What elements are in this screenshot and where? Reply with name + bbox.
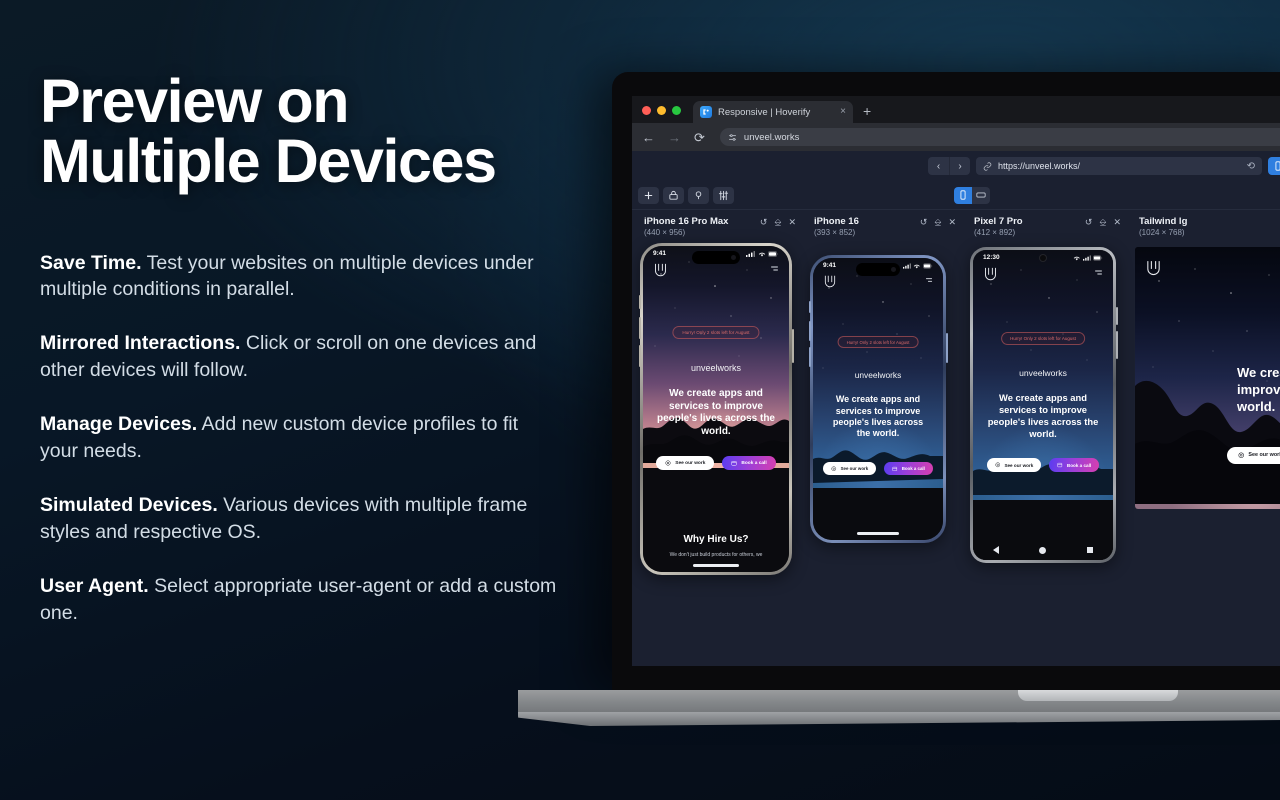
status-bar-time: 12:30 <box>983 254 1000 261</box>
see-our-work-button[interactable]: See our work <box>823 462 876 475</box>
dynamic-island <box>856 263 900 276</box>
calendar-icon <box>731 460 737 466</box>
device-header: iPhone 16 (393 × 852) ↺ ⎒ ✕ <box>810 216 970 243</box>
device-name: Tailwind lg <box>1139 216 1187 228</box>
feature-title: Save Time. <box>40 252 142 274</box>
android-home-icon[interactable] <box>1039 547 1046 554</box>
page-title-line-1: Preview on <box>40 67 348 135</box>
device-frame: 9:41 <box>810 255 946 543</box>
maximize-window-button[interactable] <box>672 106 681 115</box>
orientation-toggle[interactable] <box>954 187 990 204</box>
unveel-logo-icon[interactable] <box>823 274 837 288</box>
back-icon[interactable]: ← <box>642 131 655 144</box>
site-nav <box>1135 259 1280 276</box>
forward-icon: → <box>668 131 681 144</box>
feature-title: Simulated Devices. <box>40 494 218 516</box>
landscape-orientation-icon[interactable] <box>972 187 990 204</box>
eye-icon <box>665 460 671 466</box>
menu-icon[interactable] <box>1094 268 1103 279</box>
device-actions[interactable]: ↺ ⎒ ✕ <box>760 216 796 227</box>
book-a-call-button[interactable]: Book a call <box>884 462 933 475</box>
device-frame: We create apps and services to improve p… <box>1135 247 1280 509</box>
punch-hole-camera <box>1039 254 1047 262</box>
new-tab-button[interactable]: + <box>863 103 871 123</box>
brand-name: unveelworks <box>813 370 943 380</box>
book-a-call-label: Book a call <box>1067 463 1091 468</box>
book-a-call-label: Book a call <box>902 466 925 471</box>
feature-title: User Agent. <box>40 575 149 597</box>
promo-badge: Hurry! Only 2 slots left for August <box>672 326 759 339</box>
device-actions[interactable]: ↺ ⎒ ✕ <box>920 216 956 227</box>
see-our-work-label: See our work <box>675 461 705 466</box>
feature-title: Manage Devices. <box>40 413 197 435</box>
feature-item: User Agent. Select appropriate user-agen… <box>40 573 560 627</box>
rotate-icon[interactable]: ↺ <box>760 218 768 227</box>
close-tab-icon[interactable]: × <box>840 107 846 117</box>
see-our-work-button[interactable]: See our work <box>656 456 714 470</box>
device-viewport[interactable]: We create apps and services to improve p… <box>1135 247 1280 509</box>
hero-headline: We create apps and services to improve p… <box>1223 365 1280 416</box>
minimize-window-button[interactable] <box>657 106 666 115</box>
device-header: Tailwind lg (1024 × 768) <box>1135 216 1280 243</box>
device-name: iPhone 16 Pro Max <box>644 216 728 228</box>
laptop-mockup: Responsive | Hoverify × + ← → ⟳ <box>612 72 1280 712</box>
hero-headline: We create apps and services to improve p… <box>813 394 943 439</box>
rendered-page: 9:41 <box>643 246 789 572</box>
status-bar-icons <box>1073 255 1104 261</box>
theme-button[interactable] <box>688 187 709 204</box>
page-title-line-2: Multiple Devices <box>40 132 600 192</box>
device-name: iPhone 16 <box>814 216 859 228</box>
page-title: Preview on Multiple Devices <box>40 72 600 192</box>
close-icon[interactable]: ✕ <box>948 218 956 227</box>
status-bar-time: 9:41 <box>823 262 836 269</box>
close-window-button[interactable] <box>642 106 651 115</box>
add-device-button[interactable] <box>638 187 659 204</box>
sliders-button[interactable] <box>713 187 734 204</box>
browser-window: Responsive | Hoverify × + ← → ⟳ <box>632 96 1280 666</box>
screenshot-icon[interactable]: ⎒ <box>1099 218 1106 227</box>
promo-badge: Hurry! Only 2 slots left for August <box>838 336 919 348</box>
device-header: iPhone 16 Pro Max (440 × 956) ↺ ⎒ ✕ <box>640 216 810 243</box>
calendar-icon <box>892 466 898 472</box>
front-camera <box>891 267 896 272</box>
cellular-icon <box>1083 255 1091 261</box>
hoverify-back-button[interactable]: ‹ <box>928 157 949 175</box>
close-icon[interactable]: ✕ <box>1113 218 1121 227</box>
feature-item: Mirrored Interactions. Click or scroll o… <box>40 330 560 384</box>
eye-icon <box>1238 452 1244 458</box>
laptop-base-notch <box>1018 690 1178 701</box>
marketing-column: Preview on Multiple Devices Save Time. T… <box>40 72 600 627</box>
hoverify-panel: ‹ › https://unveel.works/ ⟲ <box>632 151 1280 666</box>
device-dimensions: (393 × 852) <box>814 228 859 238</box>
rotate-icon[interactable]: ↺ <box>1085 218 1093 227</box>
unveel-logo-icon[interactable] <box>653 262 668 277</box>
see-our-work-button[interactable]: See our work <box>987 458 1041 472</box>
book-a-call-button[interactable]: Book a call <box>1049 458 1099 472</box>
hoverify-url-row: ‹ › https://unveel.works/ ⟲ <box>632 151 1280 181</box>
close-icon[interactable]: ✕ <box>788 218 796 227</box>
browser-tab-title: Responsive | Hoverify <box>718 107 834 118</box>
hoverify-reload-icon[interactable]: ⟲ <box>1247 161 1255 172</box>
laptop-base-top <box>518 690 1280 712</box>
status-bar-time: 9:41 <box>653 250 666 257</box>
address-bar-value: unveel.works <box>744 132 799 143</box>
laptop-base <box>518 690 1280 726</box>
site-nav <box>643 262 789 277</box>
link-icon <box>983 162 992 171</box>
rendered-page: We create apps and services to improve p… <box>1135 247 1280 509</box>
window-controls[interactable] <box>642 106 681 123</box>
device-dimensions: (412 × 892) <box>974 228 1023 238</box>
see-our-work-label: See our work <box>841 466 869 471</box>
menu-icon[interactable] <box>770 264 779 275</box>
dynamic-island <box>692 251 740 264</box>
eye-icon <box>995 462 1001 468</box>
browser-nav-bar: ← → ⟳ unveel.works <box>632 123 1280 151</box>
mobile-view-icon[interactable] <box>1268 157 1280 175</box>
device-header: Pixel 7 Pro (412 × 892) ↺ ⎒ ✕ <box>970 216 1135 243</box>
battery-icon <box>768 251 779 257</box>
eye-icon <box>831 466 837 472</box>
home-indicator <box>857 532 899 535</box>
device-actions[interactable]: ↺ ⎒ ✕ <box>1085 216 1121 227</box>
site-nav <box>973 266 1113 281</box>
reload-icon[interactable]: ⟳ <box>694 131 705 144</box>
section-subtitle: We don't just build products for others,… <box>643 552 789 558</box>
status-bar-icons <box>746 251 779 257</box>
device-card-iphone-16: iPhone 16 (393 × 852) ↺ ⎒ ✕ <box>810 216 970 575</box>
laptop-screen: Responsive | Hoverify × + ← → ⟳ <box>632 96 1280 666</box>
section-title: Why Hire Us? <box>643 534 789 545</box>
site-nav <box>813 274 943 288</box>
hero-headline: We create apps and services to improve p… <box>643 388 789 438</box>
device-viewport[interactable]: 12:30 <box>973 250 1113 560</box>
cta-row: See our work Book a call <box>973 458 1113 472</box>
hoverify-history-nav[interactable]: ‹ › <box>928 157 970 175</box>
battery-icon <box>1093 255 1103 261</box>
site-settings-icon <box>728 133 737 142</box>
hero-headline: We create apps and services to improve p… <box>973 392 1113 439</box>
cellular-icon <box>903 263 911 269</box>
book-a-call-button[interactable]: Book a call <box>722 456 775 470</box>
home-indicator <box>693 564 739 567</box>
address-bar[interactable]: unveel.works <box>720 128 1280 146</box>
wifi-icon <box>1073 255 1081 261</box>
front-camera <box>731 255 736 260</box>
feature-list: Save Time. Test your websites on multipl… <box>40 250 600 627</box>
feature-item: Simulated Devices. Various devices with … <box>40 492 560 546</box>
hoverify-forward-button[interactable]: › <box>949 157 970 175</box>
book-a-call-label: Book a call <box>741 461 766 466</box>
browser-tab[interactable]: Responsive | Hoverify × <box>693 101 853 123</box>
see-our-work-label: See our work <box>1004 463 1033 468</box>
device-viewport[interactable]: 9:41 <box>813 258 943 540</box>
see-our-work-button[interactable]: See our work <box>1227 447 1280 463</box>
see-our-work-label: See our work <box>1248 452 1280 458</box>
calendar-icon <box>1057 462 1063 468</box>
android-back-icon[interactable] <box>993 546 999 554</box>
cellular-icon <box>746 251 755 257</box>
feature-item: Save Time. Test your websites on multipl… <box>40 250 560 304</box>
brand-name: unveelworks <box>973 368 1113 378</box>
laptop-base-lip <box>518 712 1280 726</box>
device-card-iphone-16-pro-max: iPhone 16 Pro Max (440 × 956) ↺ ⎒ ✕ <box>640 216 810 575</box>
android-nav-bar[interactable] <box>973 540 1113 560</box>
laptop-lid: Responsive | Hoverify × + ← → ⟳ <box>612 72 1280 690</box>
promo-badge: Hurry! Only 2 slots left for August <box>1001 332 1085 345</box>
brand-name: unveelworks <box>643 363 789 373</box>
feature-item: Manage Devices. Add new custom device pr… <box>40 411 560 465</box>
cta-row: See our work Book a call <box>643 456 789 470</box>
lock-button[interactable] <box>663 187 684 204</box>
rendered-page: 9:41 <box>813 258 943 540</box>
device-viewport[interactable]: 9:41 <box>643 246 789 572</box>
hoverify-url-input[interactable]: https://unveel.works/ ⟲ <box>976 157 1262 175</box>
device-stage[interactable]: iPhone 16 Pro Max (440 × 956) ↺ ⎒ ✕ <box>632 209 1280 666</box>
device-frame: 12:30 <box>970 247 1116 563</box>
hoverify-favicon-icon <box>700 106 712 118</box>
rendered-page: 12:30 <box>973 250 1113 560</box>
hoverify-url-value: https://unveel.works/ <box>998 161 1241 171</box>
battery-icon <box>923 263 933 269</box>
screenshot-icon[interactable]: ⎒ <box>774 218 781 227</box>
menu-icon[interactable] <box>925 276 933 286</box>
wifi-icon <box>758 251 766 257</box>
hoverify-view-toggle[interactable] <box>1268 157 1280 175</box>
unveel-logo-icon[interactable] <box>1145 259 1162 276</box>
device-name: Pixel 7 Pro <box>974 216 1023 228</box>
hoverify-toolbar <box>632 181 1280 209</box>
feature-title: Mirrored Interactions. <box>40 332 240 354</box>
portrait-orientation-icon[interactable] <box>954 187 972 204</box>
unveel-logo-icon[interactable] <box>983 266 998 281</box>
screenshot-icon[interactable]: ⎒ <box>934 218 941 227</box>
device-row: iPhone 16 Pro Max (440 × 956) ↺ ⎒ ✕ <box>632 210 1280 575</box>
status-bar-icons <box>903 263 934 269</box>
cta-row: See our work Book a call <box>813 462 943 475</box>
rotate-icon[interactable]: ↺ <box>920 218 928 227</box>
android-recents-icon[interactable] <box>1087 547 1093 553</box>
wifi-icon <box>913 263 921 269</box>
rock-silhouette <box>1135 324 1280 509</box>
device-card-tailwind-lg: Tailwind lg (1024 × 768) <box>1135 216 1280 575</box>
browser-tab-bar: Responsive | Hoverify × + <box>632 96 1280 123</box>
device-dimensions: (440 × 956) <box>644 228 728 238</box>
cta-row: See our work Book a call <box>1135 447 1280 463</box>
device-dimensions: (1024 × 768) <box>1139 228 1187 238</box>
device-frame: 9:41 <box>640 243 792 575</box>
device-card-pixel-7-pro: Pixel 7 Pro (412 × 892) ↺ ⎒ ✕ <box>970 216 1135 575</box>
